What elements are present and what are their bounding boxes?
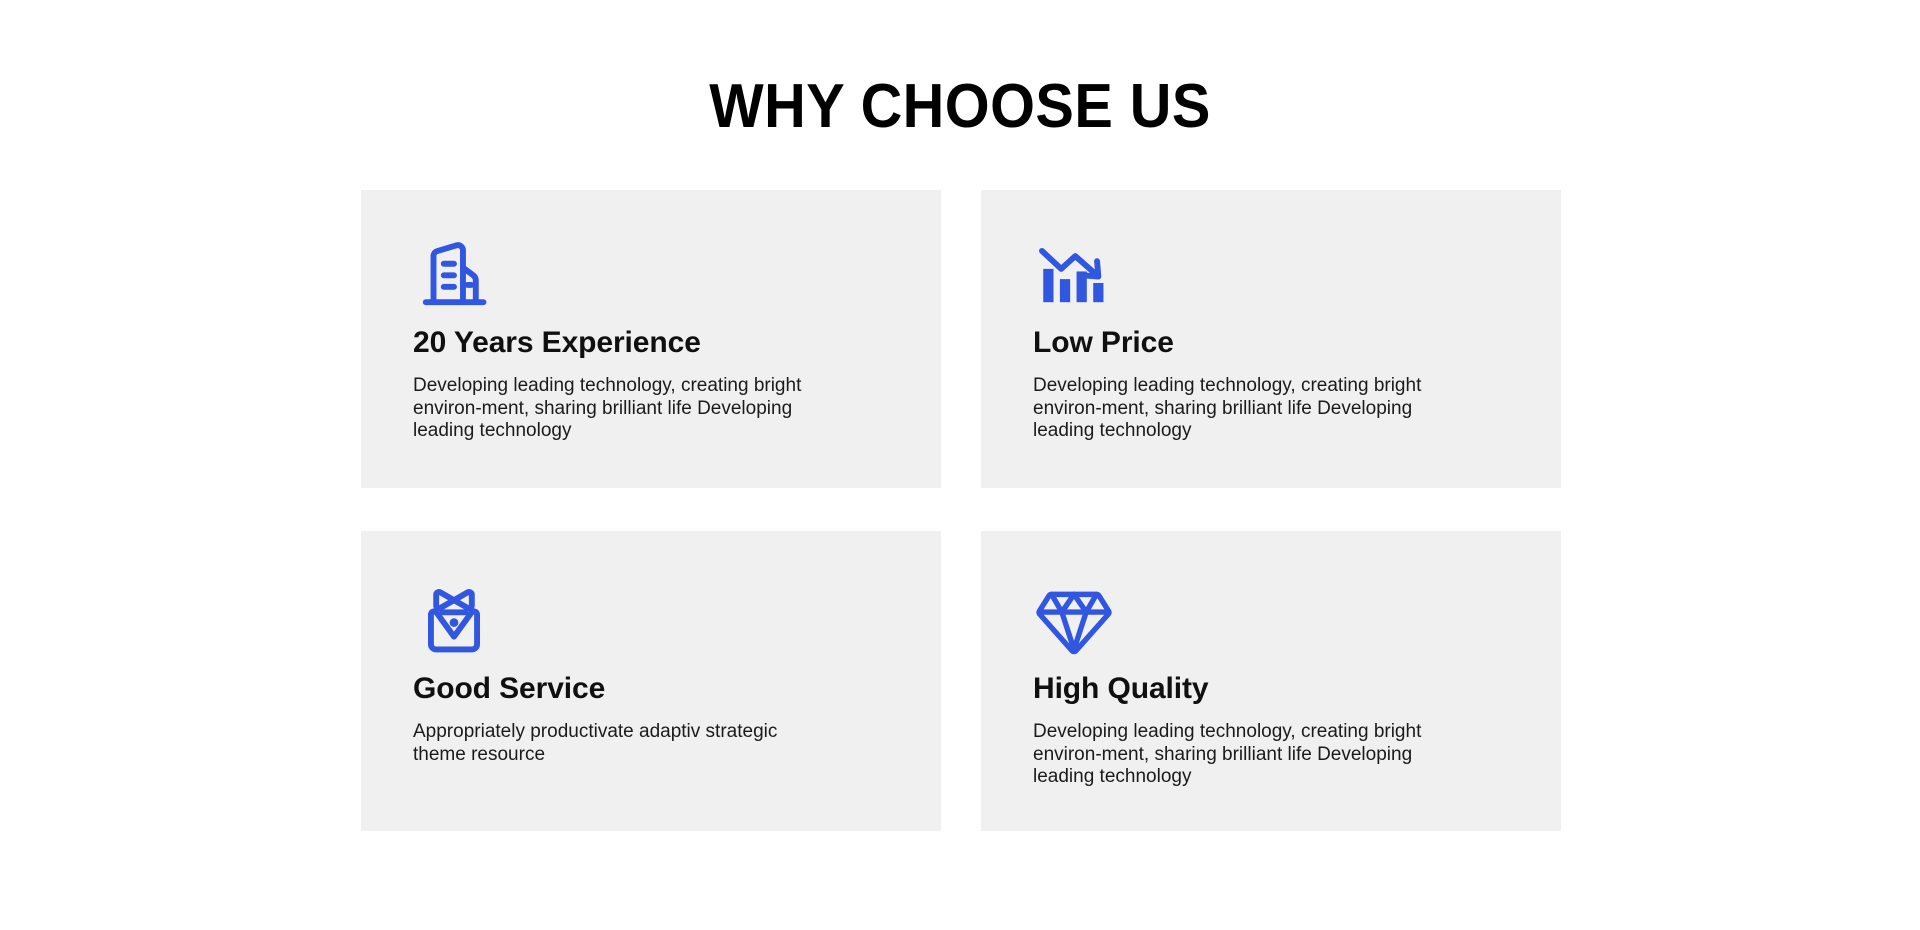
card-title: High Quality bbox=[1033, 671, 1505, 707]
card-description: Developing leading technology, creating … bbox=[413, 375, 833, 443]
feature-card-high-quality[interactable]: High Quality Developing leading technolo… bbox=[981, 531, 1561, 831]
card-title: 20 Years Experience bbox=[413, 325, 885, 361]
page-title: WHY CHOOSE US bbox=[67, 72, 1853, 142]
declining-bar-chart-icon bbox=[1033, 233, 1115, 315]
feature-card-good-service[interactable]: Good Service Appropriately productivate … bbox=[361, 531, 941, 831]
tuxedo-bowtie-icon bbox=[413, 579, 495, 661]
diamond-gem-icon bbox=[1033, 579, 1115, 661]
card-title: Low Price bbox=[1033, 325, 1505, 361]
feature-card-grid: 20 Years Experience Developing leading t… bbox=[361, 190, 1561, 831]
why-choose-us-section: WHY CHOOSE US 20 Years Experience Develo… bbox=[0, 0, 1920, 930]
office-building-icon bbox=[413, 233, 495, 315]
card-description: Developing leading technology, creating … bbox=[1033, 721, 1453, 789]
card-title: Good Service bbox=[413, 671, 885, 707]
card-description: Developing leading technology, creating … bbox=[1033, 375, 1453, 443]
card-description: Appropriately productivate adaptiv strat… bbox=[413, 721, 833, 766]
feature-card-low-price[interactable]: Low Price Developing leading technology,… bbox=[981, 190, 1561, 488]
feature-card-20-years-experience[interactable]: 20 Years Experience Developing leading t… bbox=[361, 190, 941, 488]
